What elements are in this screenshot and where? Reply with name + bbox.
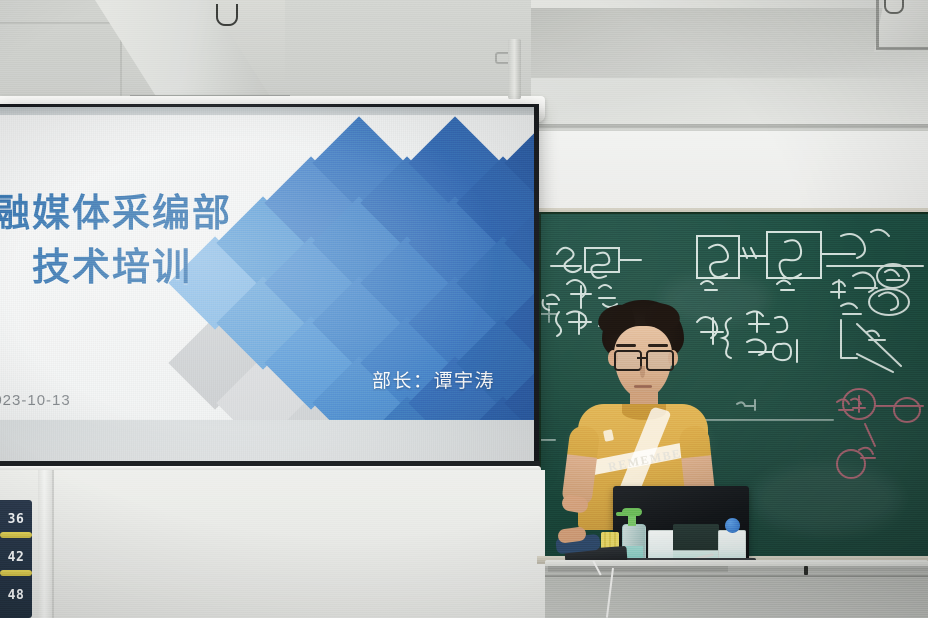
nose (640, 366, 645, 378)
slide-title-line1: 融媒体采编部 (0, 193, 232, 235)
slide-date: 2023-10-13 (0, 392, 124, 409)
marker-pen-on-podium (804, 566, 808, 575)
glasses-lens-right (646, 350, 674, 371)
number-cell-48: 48 (0, 576, 32, 614)
fixture-rod-horizontal (876, 47, 928, 50)
sanitizer-spout (616, 512, 626, 516)
number-label: 42 (8, 550, 25, 565)
wall-column-edge (52, 470, 54, 618)
slide-presenter: 部长：谭宇涛 (372, 366, 495, 393)
slide-top-letterbox (0, 107, 534, 115)
slide-bottom-letterbox (0, 420, 534, 464)
fixture-hook-icon (884, 0, 904, 14)
mouth (634, 385, 652, 388)
number-label: 36 (8, 512, 25, 527)
wall-lower-left (0, 470, 545, 618)
eyebrow-left (616, 344, 636, 347)
classroom-photo: REMEMBER GLOBE (0, 0, 928, 618)
slide-title: 融媒体采编部 技术培训 (0, 188, 246, 296)
wall-number-panel[interactable]: 36 42 48 (0, 500, 32, 618)
podium (545, 566, 928, 618)
podium-edge-line (545, 575, 928, 577)
wall-lower-right (531, 131, 928, 211)
slide-title-line2: 技术培训 (0, 242, 246, 296)
number-cell-36: 36 (0, 500, 32, 538)
wall-shadow (531, 8, 928, 78)
glasses-bridge (637, 357, 647, 359)
number-cell-42: 42 (0, 538, 32, 576)
podium-lip-shadow (548, 566, 728, 572)
glasses-lens-left (614, 350, 642, 371)
number-label: 48 (8, 588, 25, 603)
blue-cap-bottle (725, 518, 740, 533)
eyebrow-right (648, 344, 668, 347)
ceiling-hook-icon (216, 4, 238, 26)
screen-roller-end-cap (508, 39, 521, 99)
fixture-rod (876, 0, 879, 50)
ceiling-seam (0, 22, 120, 24)
